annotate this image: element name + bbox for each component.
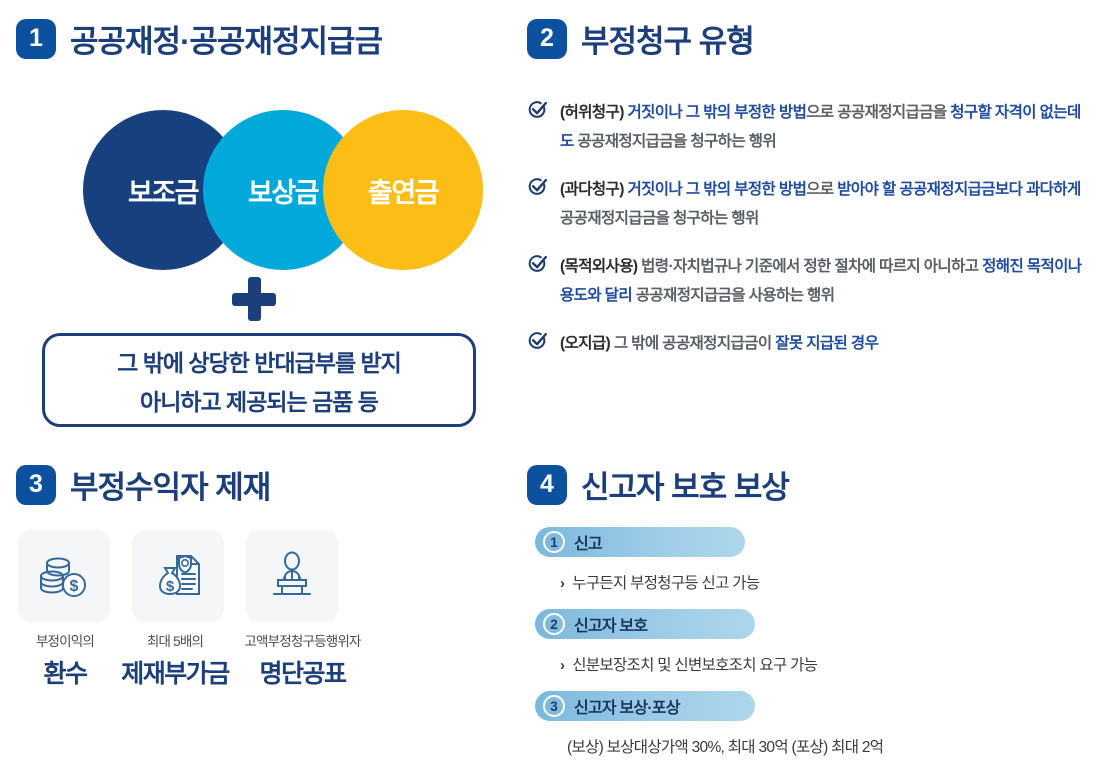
- money-bag-document-icon: $: [151, 549, 205, 603]
- chevron-right-icon: ›: [560, 575, 564, 592]
- check-circle-icon: [527, 176, 549, 198]
- plus-icon: [232, 277, 276, 321]
- section-2: 2 부정청구 유형: [527, 16, 754, 61]
- section-4-header: 4 신고자 보호 보상: [527, 462, 789, 507]
- step-description-text: 누구든지 부정청구등 신고 가능: [572, 571, 759, 593]
- venn-label-subsidy: 보조금: [128, 171, 198, 210]
- step-label-2: 신고자 보호: [574, 612, 647, 636]
- note-line-1: 그 밖에 상당한 반대급부를 받지: [117, 344, 401, 378]
- reporter-protection-steps: 1신고›누구든지 부정청구등 신고 가능2신고자 보호›신분보장조치 및 신변보…: [535, 527, 1075, 773]
- step-description-3: (보상) 보상대상가액 30%, 최대 30억 (포상) 최대 2억: [567, 735, 1075, 757]
- sanction-icons-row: $ $: [18, 530, 338, 622]
- section-1-number-badge: 1: [16, 19, 56, 59]
- section-1: 1 공공재정·공공재정지급금: [16, 16, 382, 61]
- sanction-icon-tile-surcharge: $: [132, 530, 224, 622]
- step-description-1: ›누구든지 부정청구등 신고 가능: [560, 571, 1075, 593]
- section-1-header: 1 공공재정·공공재정지급금: [16, 16, 382, 61]
- fraud-type-item: (오지급) 그 밖에 공공재정지급금이 잘못 지급된 경우: [527, 329, 1087, 358]
- step-label-1: 신고: [574, 530, 602, 554]
- sanction-icon-tile-disclosure: [246, 530, 338, 622]
- venn-label-compensation: 보상금: [248, 171, 318, 210]
- step-pill-1[interactable]: 1신고: [535, 527, 745, 557]
- sanction-title-surcharge: 제재부가금: [120, 654, 230, 690]
- step-description-2: ›신분보장조치 및 신변보호조치 요구 가능: [560, 653, 1075, 675]
- fraud-type-text-span: 공공재정지급금을 청구하는 행위: [574, 133, 776, 150]
- section-3-title: 부정수익자 제재: [70, 462, 270, 507]
- note-line-2: 아니하고 제공되는 금품 등: [140, 383, 378, 417]
- coins-dollar-icon: $: [37, 549, 91, 603]
- sanction-labels-row: 부정이익의 환수 최대 5배의 제재부가금 고액부정청구등행위자 명단공표: [10, 630, 375, 690]
- sanction-icon-tile-recovery: $: [18, 530, 110, 622]
- fraud-type-item: (과다청구) 거짓이나 그 밖의 부정한 방법으로 받아야 할 공공재정지급금보…: [527, 175, 1087, 233]
- venn-label-contribution: 출연금: [368, 171, 438, 210]
- fraud-type-text-span: 거짓이나 그 밖의 부정한 방법: [627, 181, 806, 198]
- fraud-type-text-span: (목적외사용): [560, 258, 641, 275]
- fraud-type-text-span: 으로 공공재정지급금을: [806, 104, 950, 121]
- section-3-header: 3 부정수익자 제재: [16, 462, 270, 507]
- step-label-3: 신고자 보상·포상: [574, 694, 680, 718]
- section-3: 3 부정수익자 제재: [16, 462, 270, 507]
- section-2-title: 부정청구 유형: [581, 16, 754, 61]
- fraud-type-text-span: 잘못 지급된 경우: [775, 335, 878, 352]
- additional-note-box: 그 밖에 상당한 반대급부를 받지 아니하고 제공되는 금품 등: [42, 333, 476, 427]
- fraud-type-text-span: (과다청구): [560, 181, 627, 198]
- fraud-type-text-span: 공공재정지급금을 사용하는 행위: [632, 287, 834, 304]
- fraud-type-text-span: 으로: [806, 181, 837, 198]
- step-number-3: 3: [543, 695, 565, 717]
- fraud-type-text-span: 거짓이나 그 밖의 부정한 방법: [627, 104, 806, 121]
- svg-text:$: $: [166, 578, 175, 595]
- sanction-subtitle-disclosure: 고액부정청구등행위자: [230, 630, 375, 650]
- sanction-title-recovery: 환수: [10, 654, 120, 690]
- check-circle-icon: [527, 330, 549, 352]
- section-2-header: 2 부정청구 유형: [527, 16, 754, 61]
- section-2-number-badge: 2: [527, 19, 567, 59]
- venn-diagram: 보조금 보상금 출연금: [55, 110, 475, 270]
- fraud-type-text-span: 그 밖에 공공재정지급금이: [614, 335, 775, 352]
- sanction-label-disclosure: 고액부정청구등행위자 명단공표: [230, 630, 375, 690]
- fraud-type-text: (목적외사용) 법령·자치법규나 기준에서 정한 절차에 따르지 아니하고 정해…: [560, 252, 1087, 310]
- step-number-2: 2: [543, 613, 565, 635]
- chevron-right-icon: ›: [560, 657, 564, 674]
- check-circle-icon: [527, 99, 549, 121]
- fraud-type-text-span: (허위청구): [560, 104, 627, 121]
- step-pill-3[interactable]: 3신고자 보상·포상: [535, 691, 755, 721]
- section-4-title: 신고자 보호 보상: [581, 462, 789, 507]
- section-4: 4 신고자 보호 보상: [527, 462, 789, 507]
- fraud-type-text-span: (오지급): [560, 335, 614, 352]
- fraud-type-item: (허위청구) 거짓이나 그 밖의 부정한 방법으로 공공재정지급금을 청구할 자…: [527, 98, 1087, 156]
- fraud-type-item: (목적외사용) 법령·자치법규나 기준에서 정한 절차에 따르지 아니하고 정해…: [527, 252, 1087, 310]
- section-3-number-badge: 3: [16, 465, 56, 505]
- fraud-type-text: (허위청구) 거짓이나 그 밖의 부정한 방법으로 공공재정지급금을 청구할 자…: [560, 98, 1087, 156]
- svg-text:$: $: [70, 578, 79, 595]
- venn-circle-contribution: 출연금: [323, 110, 483, 270]
- sanction-subtitle-surcharge: 최대 5배의: [120, 630, 230, 650]
- sanction-title-disclosure: 명단공표: [230, 654, 375, 690]
- step-number-1: 1: [543, 531, 565, 553]
- fraud-type-list: (허위청구) 거짓이나 그 밖의 부정한 방법으로 공공재정지급금을 청구할 자…: [527, 98, 1087, 377]
- section-1-title: 공공재정·공공재정지급금: [70, 16, 382, 61]
- sanction-subtitle-recovery: 부정이익의: [10, 630, 120, 650]
- step-description-text: 신분보장조치 및 신변보호조치 요구 가능: [572, 653, 817, 675]
- fraud-type-text: (오지급) 그 밖에 공공재정지급금이 잘못 지급된 경우: [560, 329, 878, 358]
- check-circle-icon: [527, 253, 549, 275]
- fraud-type-text-span: 법령·자치법규나 기준에서 정한 절차에 따르지 아니하고: [641, 258, 982, 275]
- person-podium-icon: [265, 549, 319, 603]
- fraud-type-text: (과다청구) 거짓이나 그 밖의 부정한 방법으로 받아야 할 공공재정지급금보…: [560, 175, 1087, 233]
- sanction-label-recovery: 부정이익의 환수: [10, 630, 120, 690]
- infographic-page: 1 공공재정·공공재정지급금 보조금 보상금 출연금 그 밖에 상당한 반대급부…: [0, 0, 1100, 784]
- section-4-number-badge: 4: [527, 465, 567, 505]
- step-pill-2[interactable]: 2신고자 보호: [535, 609, 755, 639]
- fraud-type-text-span: 받아야 할 공공재정지급금보다 과다하게: [837, 181, 1080, 198]
- fraud-type-text-span: 공공재정지급금을 청구하는 행위: [560, 210, 759, 227]
- step-description-text: (보상) 보상대상가액 30%, 최대 30억 (포상) 최대 2억: [567, 735, 883, 757]
- sanction-label-surcharge: 최대 5배의 제재부가금: [120, 630, 230, 690]
